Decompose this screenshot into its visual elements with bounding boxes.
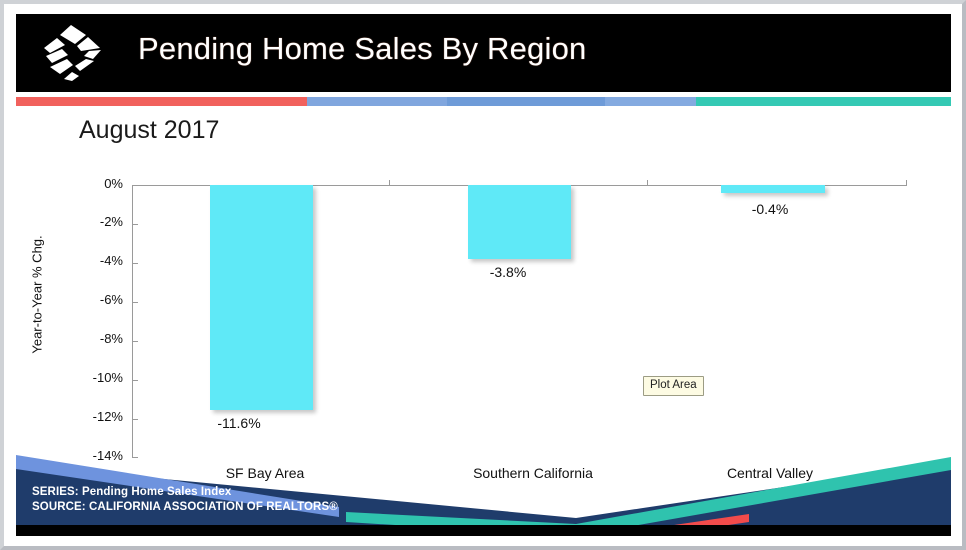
chart-subtitle: August 2017 <box>79 116 219 145</box>
y-tick-3: -6% <box>67 292 123 307</box>
y-axis-title: Year-to-Year % Chg. <box>30 185 45 405</box>
bar-label-central-valley: -0.4% <box>710 201 830 217</box>
accent-segment-teal <box>696 97 951 106</box>
car-diamond-logo-icon <box>34 21 110 85</box>
bar-sf-bay-area[interactable] <box>210 185 313 410</box>
header-bar: Pending Home Sales By Region <box>16 14 951 92</box>
page-title: Pending Home Sales By Region <box>138 31 586 67</box>
y-tick-6: -12% <box>67 409 123 424</box>
accent-segment-red <box>16 97 307 106</box>
y-tick-4: -8% <box>67 331 123 346</box>
y-tick-1: -2% <box>67 214 123 229</box>
plot-area-tooltip: Plot Area <box>643 376 704 396</box>
slide-canvas: Pending Home Sales By Region August 2017… <box>9 9 957 541</box>
bar-label-sf-bay-area: -11.6% <box>179 415 299 431</box>
slide-frame: Pending Home Sales By Region August 2017… <box>0 0 966 550</box>
footer-band: SERIES: Pending Home Sales Index SOURCE:… <box>16 452 951 536</box>
accent-segment-blue-1 <box>307 97 447 106</box>
accent-segment-blue-3 <box>605 97 696 106</box>
y-tick-2: -4% <box>67 253 123 268</box>
footer-source-line: SOURCE: CALIFORNIA ASSOCIATION OF REALTO… <box>32 500 338 515</box>
accent-rule <box>16 97 951 106</box>
bar-label-southern-california: -3.8% <box>448 264 568 280</box>
y-axis-ticklabels: 0% -2% -4% -6% -8% -10% -12% -14% <box>67 169 123 441</box>
y-tick-0: 0% <box>67 176 123 191</box>
bar-central-valley[interactable] <box>721 185 825 193</box>
footer-text: SERIES: Pending Home Sales Index SOURCE:… <box>32 485 338 515</box>
y-tick-5: -10% <box>67 370 123 385</box>
bar-southern-california[interactable] <box>468 185 571 259</box>
chart-region: Year-to-Year % Chg. 0% -2% -4% -6% -8% -… <box>9 169 957 469</box>
footer-series-line: SERIES: Pending Home Sales Index <box>32 485 338 500</box>
accent-segment-blue-2 <box>447 97 605 106</box>
